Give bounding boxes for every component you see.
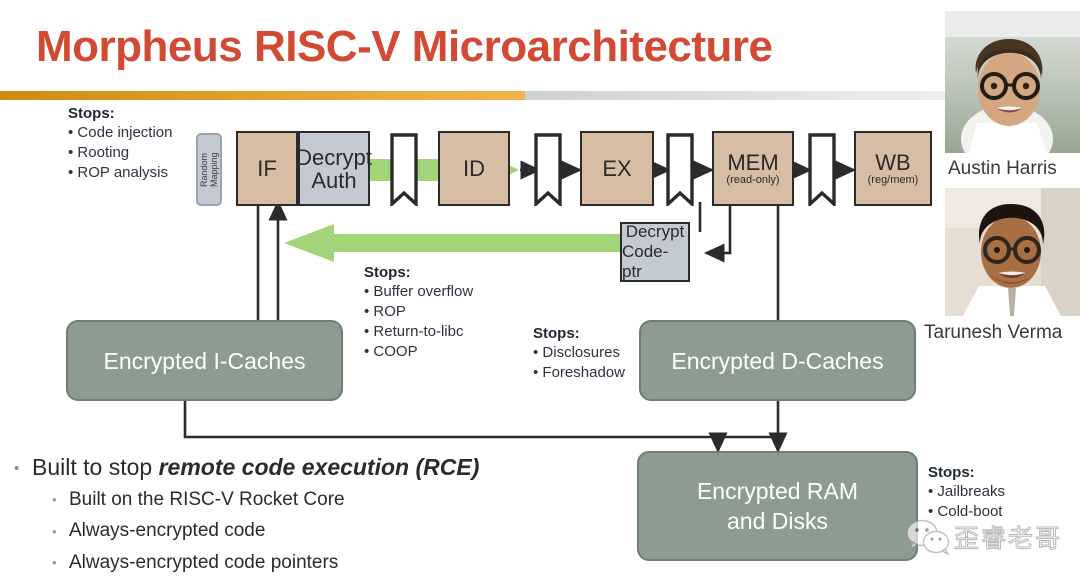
random-mapping-block: Random Mapping (196, 133, 222, 206)
pipeline-register (534, 133, 562, 206)
stage-label-mem: MEM (727, 151, 778, 174)
pipeline-stage-id: ID (438, 131, 510, 206)
bullet-main-emphasis: remote code execution (RCE) (159, 454, 480, 480)
stage-label-decrypt: Decrypt (296, 146, 372, 169)
random-mapping-label: Random Mapping (199, 135, 219, 204)
pipeline-register (390, 133, 418, 206)
stage-sublabel-mem: (read-only) (726, 174, 779, 187)
decrypt-codeptr-line1: Decrypt (626, 222, 685, 242)
bullet-main: •Built to stop remote code execution (RC… (14, 452, 634, 484)
bullet-marker: • (52, 547, 69, 578)
pipeline-register (808, 133, 836, 206)
bullet-marker: • (14, 454, 32, 484)
bullet-main-prefix: Built to stop (32, 454, 159, 480)
stage-label-wb: WB (875, 151, 910, 174)
bullet-sub-label: Always-encrypted code pointers (69, 552, 338, 573)
bullet-sub: •Always-encrypted code (52, 515, 634, 546)
encrypted-ram-label-line1: Encrypted RAM (697, 476, 858, 506)
stage-sublabel-wb: (reg/mem) (868, 174, 919, 187)
decrypt-codeptr-line2: Code-ptr (622, 242, 688, 282)
stage-label-id: ID (463, 157, 485, 180)
pipeline-stage-ex: EX (580, 131, 654, 206)
pipeline-stage-decrypt-auth: Decrypt Auth (298, 131, 370, 206)
encrypted-d-caches-box: Encrypted D-Caches (639, 320, 916, 401)
bullet-list: •Built to stop remote code execution (RC… (14, 452, 634, 578)
bullet-marker: • (52, 516, 69, 547)
slide-canvas: Morpheus RISC-V Microarchitecture (0, 0, 1080, 583)
encrypted-i-caches-box: Encrypted I-Caches (66, 320, 343, 401)
encrypted-i-caches-label: Encrypted I-Caches (104, 346, 306, 376)
bullet-sub-label: Built on the RISC-V Rocket Core (69, 489, 345, 510)
pipeline-stage-wb: WB (reg/mem) (854, 131, 932, 206)
encrypted-ram-and-disks-box: Encrypted RAM and Disks (637, 451, 918, 561)
bullet-sub: •Built on the RISC-V Rocket Core (52, 484, 634, 515)
pipeline-stage-if: IF (236, 131, 298, 206)
wechat-watermark: 歪睿老哥 (906, 513, 1080, 561)
stage-label-auth: Auth (311, 169, 356, 192)
bullet-sub: •Always-encrypted code pointers (52, 547, 634, 578)
bullet-marker: • (52, 484, 69, 515)
pipeline-register (666, 133, 694, 206)
watermark-text: 歪睿老哥 (954, 519, 1062, 555)
codeptr-feedback-arrow (282, 223, 626, 263)
decrypt-code-ptr-block: Decrypt Code-ptr (620, 222, 690, 282)
stage-label-if: IF (257, 157, 277, 180)
bullet-sub-label: Always-encrypted code (69, 520, 265, 541)
stage-label-ex: EX (602, 157, 631, 180)
wechat-icon (906, 519, 950, 555)
pipeline-stage-mem: MEM (read-only) (712, 131, 794, 206)
encrypted-d-caches-label: Encrypted D-Caches (671, 346, 883, 376)
encrypted-ram-label-line2: and Disks (727, 506, 828, 536)
